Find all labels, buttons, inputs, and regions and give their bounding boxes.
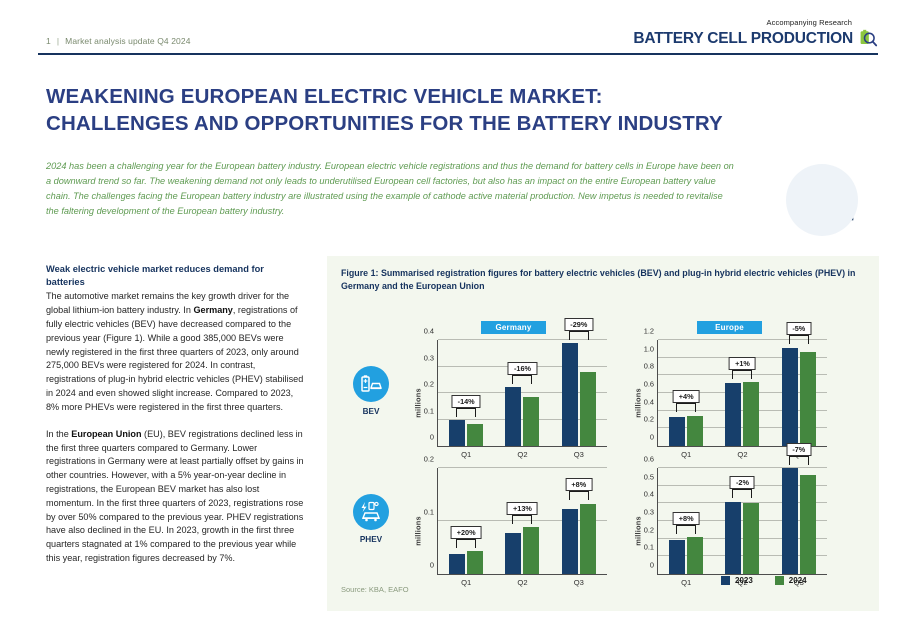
p2-emphasis-eu: European Union	[71, 429, 141, 439]
bar-group: +8%Q1	[669, 468, 703, 574]
delta-bracket	[789, 335, 809, 344]
chart-bev-germany: millions00.10.20.30.4-14%Q1-16%Q2-29%Q3	[407, 340, 607, 465]
battery-magnifier-icon	[856, 28, 878, 50]
delta-bracket	[456, 539, 476, 548]
delta-bracket	[732, 489, 752, 498]
bar-group: +20%Q1	[449, 468, 483, 574]
bar-2024	[743, 503, 759, 574]
y-axis-tick-label: 0.2	[424, 455, 434, 464]
legend-item: 2024	[775, 576, 807, 585]
header-separator: |	[57, 36, 59, 46]
legend-label: 2024	[789, 576, 807, 585]
delta-bracket	[676, 525, 696, 534]
legend-swatch	[721, 576, 730, 585]
y-axis-tick-label: 0.8	[644, 362, 654, 371]
chart-legend: 20232024	[721, 576, 807, 585]
x-axis-tick-label: Q2	[517, 578, 527, 587]
delta-bracket	[569, 491, 589, 500]
y-axis-tick-label: 0.1	[644, 543, 654, 552]
bar-2024	[467, 551, 483, 574]
y-axis-tick-label: 1.0	[644, 344, 654, 353]
bar-group: -2%Q2	[725, 468, 759, 574]
plot-area: 00.10.2+20%Q1+13%Q2+8%Q3	[437, 468, 607, 575]
delta-label: -2%	[730, 476, 755, 489]
delta-label: -16%	[508, 362, 537, 375]
bar-group: +4%Q1	[669, 340, 703, 446]
delta-label: -5%	[786, 322, 811, 335]
p1-part-c: , registrations of fully electric vehicl…	[46, 305, 303, 412]
x-axis-tick-label: Q3	[574, 450, 584, 459]
row-icon-phev: PHEV	[341, 494, 401, 544]
delta-bracket	[456, 408, 476, 417]
phev-icon-disc	[353, 494, 389, 530]
y-axis-tick-label: 0	[650, 561, 654, 570]
delta-bracket	[512, 375, 532, 384]
bar-group: -14%Q1	[449, 340, 483, 446]
y-axis-title: millions	[413, 388, 422, 418]
running-header: 1 | Market analysis update Q4 2024	[46, 36, 191, 46]
y-axis-tick-label: 0.4	[644, 490, 654, 499]
chart-phev-europe: millions00.10.20.30.40.50.6+8%Q1-2%Q2-7%…	[627, 468, 827, 593]
page-header: 1 | Market analysis update Q4 2024 Accom…	[0, 0, 913, 56]
chart-phev-germany: millions00.10.2+20%Q1+13%Q2+8%Q3	[407, 468, 607, 593]
bar-2023	[725, 502, 741, 574]
bar-2024	[800, 475, 816, 574]
delta-label: -14%	[452, 395, 481, 408]
x-axis-tick-label: Q2	[737, 450, 747, 459]
bar-2024	[743, 382, 759, 446]
x-axis-tick-label: Q3	[574, 578, 584, 587]
y-axis-tick-label: 1.2	[644, 327, 654, 336]
delta-bracket	[732, 370, 752, 379]
y-axis-tick-label: 0.2	[644, 525, 654, 534]
y-axis-tick-label: 0.1	[424, 508, 434, 517]
bar-2023	[562, 509, 578, 574]
bar-2024	[800, 352, 816, 446]
legend-label: 2023	[735, 576, 753, 585]
y-axis-tick-label: 0.3	[644, 508, 654, 517]
running-title: Market analysis update Q4 2024	[65, 36, 190, 46]
bev-icon-disc	[353, 366, 389, 402]
y-axis-tick-label: 0.1	[424, 406, 434, 415]
y-axis-tick-label: 0.2	[644, 415, 654, 424]
x-axis-tick-label: Q1	[461, 450, 471, 459]
row-label-phev: PHEV	[341, 535, 401, 544]
bar-2024	[523, 397, 539, 446]
x-axis-tick-label: Q1	[681, 578, 691, 587]
delta-label: +8%	[565, 478, 592, 491]
delta-label: -7%	[786, 443, 811, 456]
bar-group: -5%Q3	[782, 340, 816, 446]
row-label-bev: BEV	[341, 407, 401, 416]
p2-part-a: In the	[46, 429, 71, 439]
region-badge-europe: Europe	[697, 321, 762, 334]
bar-groups: +4%Q1+1%Q2-5%Q3	[658, 340, 827, 446]
y-axis-tick-label: 0.5	[644, 472, 654, 481]
bar-group: +8%Q3	[562, 468, 596, 574]
x-axis-tick-label: Q2	[517, 450, 527, 459]
bar-2023	[562, 343, 578, 446]
bar-2024	[580, 504, 596, 574]
article-paragraph-1: The automotive market remains the key gr…	[46, 290, 304, 414]
delta-label: -29%	[564, 318, 593, 331]
bar-group: +1%Q2	[725, 340, 759, 446]
article-paragraph-2: In the European Union (EU), BEV registra…	[46, 428, 304, 566]
bar-2023	[505, 533, 521, 574]
bar-2024	[687, 416, 703, 446]
bar-2023	[725, 383, 741, 446]
row-icon-bev: BEV	[341, 366, 401, 416]
delta-bracket	[512, 515, 532, 524]
bar-group: -29%Q3	[562, 340, 596, 446]
icon-halo	[786, 164, 858, 236]
page-title-line2: CHALLENGES AND OPPORTUNITIES FOR THE BAT…	[46, 110, 846, 137]
y-axis-tick-label: 0.3	[424, 353, 434, 362]
bar-group: -7%Q3	[782, 468, 816, 574]
page-number: 1	[46, 36, 51, 46]
bar-2024	[687, 537, 703, 574]
article-heading: Weak electric vehicle market reduces dem…	[46, 263, 304, 289]
y-axis-tick-label: 0	[650, 433, 654, 442]
bar-groups: +20%Q1+13%Q2+8%Q3	[438, 468, 607, 574]
bar-2023	[449, 554, 465, 574]
bar-2024	[580, 372, 596, 446]
y-axis-title: millions	[413, 516, 422, 546]
figure-caption: Figure 1: Summarised registration figure…	[341, 267, 869, 293]
bar-groups: -14%Q1-16%Q2-29%Q3	[438, 340, 607, 446]
brand-logo: Accompanying Research BATTERY CELL PRODU…	[633, 18, 878, 50]
battery-illustration	[786, 160, 866, 240]
bar-2023	[449, 420, 465, 446]
region-badge-germany: Germany	[481, 321, 546, 334]
page-title-line1: WEAKENING EUROPEAN ELECTRIC VEHICLE MARK…	[46, 83, 846, 110]
y-axis-tick-label: 0.6	[644, 455, 654, 464]
lede-paragraph: 2024 has been a challenging year for the…	[46, 159, 736, 219]
y-axis-title: millions	[633, 388, 642, 418]
header-divider	[38, 53, 878, 55]
delta-bracket	[789, 456, 809, 465]
bar-2023	[669, 417, 685, 446]
delta-label: +4%	[673, 390, 700, 403]
figure-1-panel: Figure 1: Summarised registration figure…	[327, 256, 879, 611]
p1-emphasis-germany: Germany	[193, 305, 232, 315]
y-axis-tick-label: 0	[430, 433, 434, 442]
logo-title: BATTERY CELL PRODUCTION	[633, 30, 853, 48]
delta-label: +1%	[729, 357, 756, 370]
page-title: WEAKENING EUROPEAN ELECTRIC VEHICLE MARK…	[46, 83, 846, 137]
y-axis-tick-label: 0.4	[424, 327, 434, 336]
x-axis-tick-label: Q1	[461, 578, 471, 587]
battery-car-icon	[358, 371, 384, 397]
bar-2024	[467, 424, 483, 446]
logo-subtitle: Accompanying Research	[767, 18, 852, 27]
y-axis-title: millions	[633, 516, 642, 546]
y-axis-tick-label: 0	[430, 561, 434, 570]
bar-2023	[505, 387, 521, 446]
x-axis-tick-label: Q1	[681, 450, 691, 459]
bar-groups: +8%Q1-2%Q2-7%Q3	[658, 468, 827, 574]
bar-2023	[669, 540, 685, 574]
delta-label: +20%	[451, 526, 482, 539]
y-axis-tick-label: 0.4	[644, 397, 654, 406]
delta-bracket	[569, 331, 589, 340]
hybrid-car-icon	[358, 499, 384, 525]
bar-group: +13%Q2	[505, 468, 539, 574]
delta-label: +13%	[507, 502, 538, 515]
article-column: Weak electric vehicle market reduces dem…	[46, 263, 304, 579]
y-axis-tick-label: 0.6	[644, 380, 654, 389]
bar-2023	[782, 348, 798, 446]
legend-item: 2023	[721, 576, 753, 585]
bar-2024	[523, 527, 539, 574]
delta-label: +8%	[673, 512, 700, 525]
y-axis-tick-label: 0.2	[424, 380, 434, 389]
plot-area: 00.10.20.30.4-14%Q1-16%Q2-29%Q3	[437, 340, 607, 447]
figure-source: Source: KBA, EAFO	[341, 585, 409, 594]
bar-2023	[782, 468, 798, 574]
p2-part-c: (EU), BEV registrations declined less in…	[46, 429, 304, 563]
plot-area: 00.10.20.30.40.50.6+8%Q1-2%Q2-7%Q3	[657, 468, 827, 575]
bar-group: -16%Q2	[505, 340, 539, 446]
plot-area: 00.20.40.60.81.01.2+4%Q1+1%Q2-5%Q3	[657, 340, 827, 447]
delta-bracket	[676, 403, 696, 412]
legend-swatch	[775, 576, 784, 585]
